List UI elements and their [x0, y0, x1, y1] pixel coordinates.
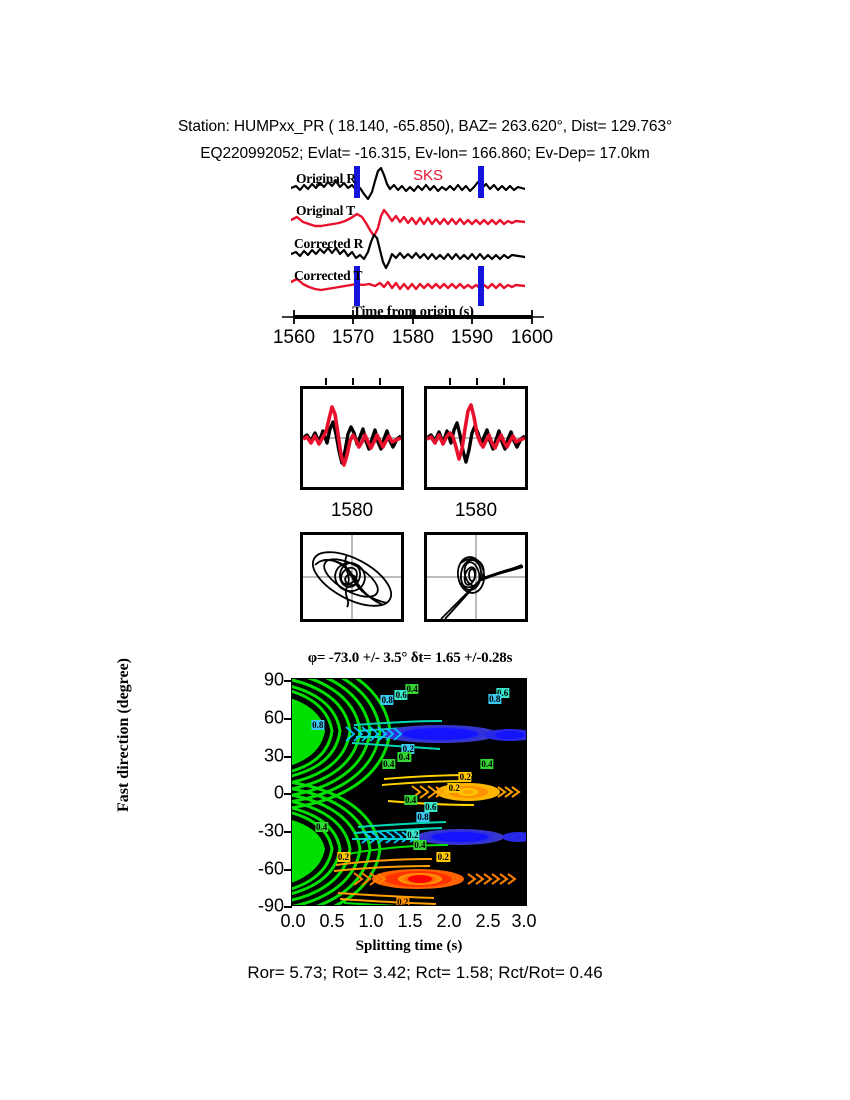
ytick-m30: -30 [258, 821, 284, 842]
particle-motion-panel-uncorrected [300, 532, 404, 622]
time-tick-1560: 1560 [273, 327, 315, 349]
contour-label-5: 0.8 [311, 720, 324, 730]
time-axis-title: Time from origin (s) [280, 304, 546, 321]
contour-label-1: 0.6 [395, 690, 408, 700]
window-end-marker [478, 166, 484, 198]
ytick-mark-30 [284, 756, 292, 758]
xtick-0-0: 0.0 [280, 911, 305, 932]
ytick-mark-90 [284, 680, 292, 682]
fast-slow-panel-1-tick-label: 1580 [331, 500, 373, 522]
fast-slow-panel-2-tick-label: 1580 [455, 500, 497, 522]
contour-y-tick-labels: 90 60 30 0 -30 -60 -90 [218, 678, 284, 907]
contour-label-16: 0.2 [406, 830, 419, 840]
sks-phase-label: SKS [413, 167, 443, 184]
particle-motion-panel-corrected [424, 532, 528, 622]
contour-label-17: 0.4 [413, 840, 426, 850]
contour-label-15: 0.4 [315, 822, 328, 832]
mini-panel-1-tick-left [325, 378, 327, 385]
xtick-1-0: 1.0 [358, 911, 383, 932]
contour-label-4: 0.8 [488, 694, 501, 704]
contour-label-2: 0.8 [381, 695, 394, 705]
contour-label-18: 0.2 [337, 852, 350, 862]
event-info-line: EQ220992052; Evlat= -16.315, Ev-lon= 166… [0, 145, 850, 163]
time-tick-1580: 1580 [392, 327, 434, 349]
ytick-mark-m60 [284, 869, 292, 871]
contour-label-20: 0.2 [396, 897, 409, 906]
contour-label-12: 0.4 [404, 795, 417, 805]
mini-panel-2-tick-left [449, 378, 451, 385]
time-tick-1570: 1570 [332, 327, 374, 349]
contour-label-9: 0.4 [480, 759, 493, 769]
contour-label-8: 0.4 [382, 759, 395, 769]
mini-panel-1-tick-center [352, 378, 354, 385]
contour-secondary-minimum [436, 783, 500, 801]
energy-contour-plot: 0.4 0.6 0.8 0.6 0.8 0.8 0.2 0.4 0.4 0.4 … [291, 678, 527, 906]
ytick-mark-m30 [284, 831, 292, 833]
contour-label-7: 0.4 [398, 752, 411, 762]
ytick-60: 60 [264, 708, 284, 729]
mini-panel-1-tick-right [379, 378, 381, 385]
ytick-mark-m90 [284, 906, 292, 908]
figure-page: Station: HUMPxx_PR ( 18.140, -65.850), B… [0, 0, 850, 1100]
contour-y-axis-label: Fast direction (degree) [115, 605, 133, 865]
xtick-0-5: 0.5 [319, 911, 344, 932]
mini-panel-2-tick-center [476, 378, 478, 385]
trace-label-corrected-r: Corrected R [294, 236, 363, 252]
contour-label-11: 0.2 [448, 783, 461, 793]
contour-x-axis-label: Splitting time (s) [291, 938, 527, 955]
ytick-0: 0 [274, 783, 284, 804]
trace-label-original-t: Original T [296, 203, 355, 219]
mini-panel-2-tick-right [503, 378, 505, 385]
ytick-m60: -60 [258, 859, 284, 880]
ytick-90: 90 [264, 670, 284, 691]
contour-label-14: 0.8 [416, 812, 429, 822]
ytick-mark-0 [284, 793, 292, 795]
time-tick-1590: 1590 [451, 327, 493, 349]
time-tick-1600: 1600 [511, 327, 553, 349]
xtick-2-0: 2.0 [436, 911, 461, 932]
time-axis-tick-labels: 1560 1570 1580 1590 1600 [255, 327, 575, 353]
quality-statistics-line: Ror= 5.73; Rot= 3.42; Rct= 1.58; Rct/Rot… [0, 963, 850, 983]
contour-label-10: 0.2 [459, 772, 472, 782]
fast-slow-panel-corrected [424, 386, 528, 490]
xtick-1-5: 1.5 [397, 911, 422, 932]
fast-slow-panel-uncorrected [300, 386, 404, 490]
trace-label-corrected-t: Corrected T [294, 268, 362, 284]
contour-label-19: 0.2 [437, 852, 450, 862]
trace-label-original-r: Original R [296, 171, 356, 187]
ytick-30: 30 [264, 746, 284, 767]
splitting-parameters-title: φ= -73.0 +/- 3.5° δt= 1.65 +/-0.28s [240, 650, 580, 667]
contour-label-13: 0.6 [424, 802, 437, 812]
station-info-line: Station: HUMPxx_PR ( 18.140, -65.850), B… [0, 118, 850, 136]
ytick-mark-60 [284, 718, 292, 720]
xtick-2-5: 2.5 [475, 911, 500, 932]
window-end-marker-2 [478, 266, 484, 306]
xtick-3-0: 3.0 [511, 911, 536, 932]
contour-x-tick-labels: 0.0 0.5 1.0 1.5 2.0 2.5 3.0 [0, 911, 850, 937]
